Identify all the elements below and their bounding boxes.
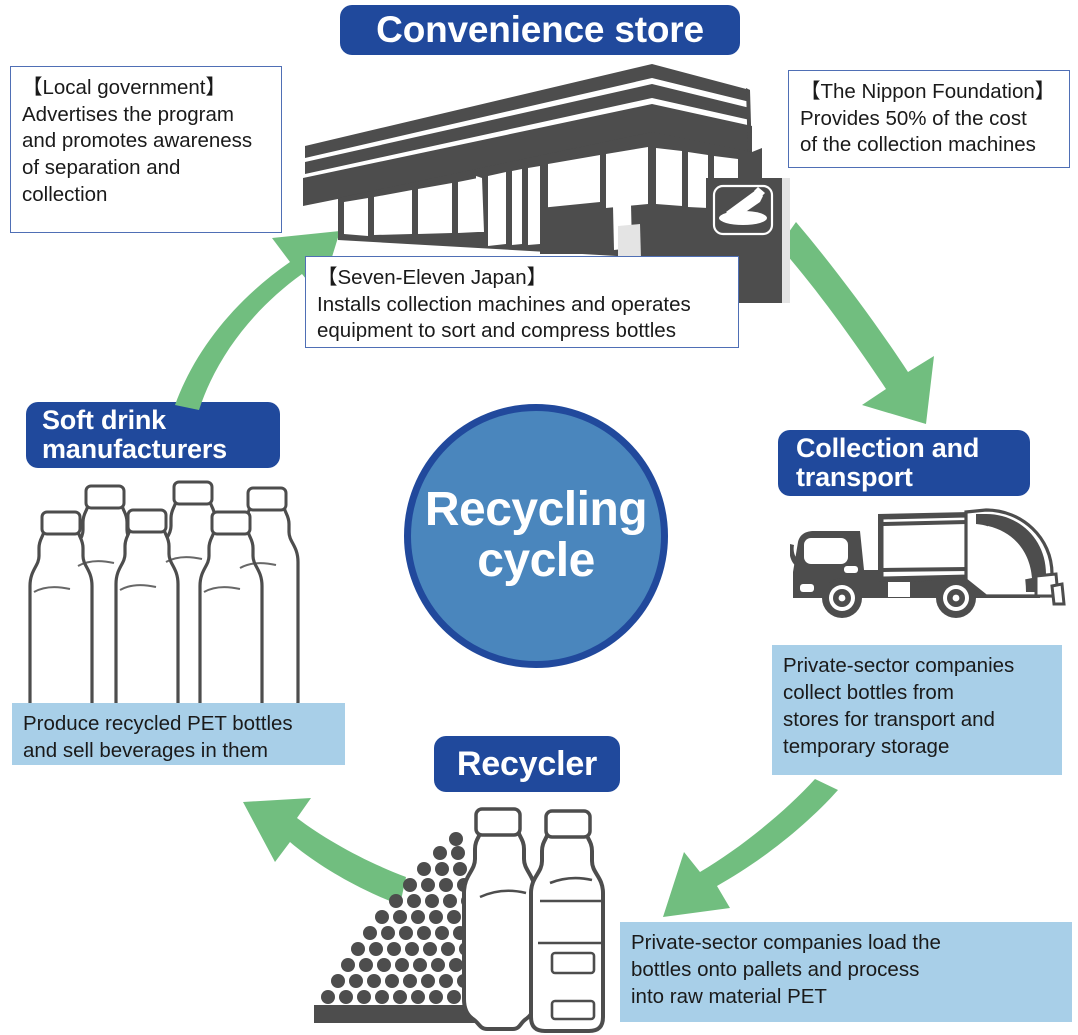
arrow-collection-to-recycler xyxy=(663,779,838,917)
note-local-government-body: Advertises the program and promotes awar… xyxy=(22,102,271,209)
note-soft-drink: Produce recycled PET bottles and sell be… xyxy=(12,703,345,765)
note-nippon-foundation-heading: 【The Nippon Foundation】 xyxy=(800,79,1059,106)
note-collection-transport: Private-sector companies collect bottles… xyxy=(772,645,1062,775)
note-soft-drink-body: Produce recycled PET bottles and sell be… xyxy=(23,710,335,764)
note-seven-eleven-heading: 【Seven-Eleven Japan】 xyxy=(317,265,728,292)
note-recycler: Private-sector companies load the bottle… xyxy=(620,922,1072,1022)
six-pet-bottles-illustration xyxy=(24,470,314,720)
pet-flake-pile-and-bottles-illustration xyxy=(300,805,660,1035)
note-local-government-heading: 【Local government】 xyxy=(22,75,271,102)
note-recycler-body: Private-sector companies load the bottle… xyxy=(631,929,1062,1010)
recycling-cycle-circle: Recycling cycle xyxy=(404,404,668,668)
note-nippon-foundation-body: Provides 50% of the cost of the collecti… xyxy=(800,106,1059,159)
note-collection-transport-body: Private-sector companies collect bottles… xyxy=(783,652,1052,760)
note-seven-eleven: 【Seven-Eleven Japan】 Installs collection… xyxy=(305,256,739,348)
note-local-government: 【Local government】 Advertises the progra… xyxy=(10,66,282,233)
note-nippon-foundation: 【The Nippon Foundation】 Provides 50% of … xyxy=(788,70,1070,168)
note-seven-eleven-body: Installs collection machines and operate… xyxy=(317,292,728,345)
cycle-label-line1: Recycling xyxy=(425,483,647,536)
recycling-cycle-diagram: Recycling cycle Convenience store Collec… xyxy=(0,0,1078,1035)
cycle-label-line2: cycle xyxy=(477,534,595,587)
garbage-truck-illustration xyxy=(790,500,1078,648)
